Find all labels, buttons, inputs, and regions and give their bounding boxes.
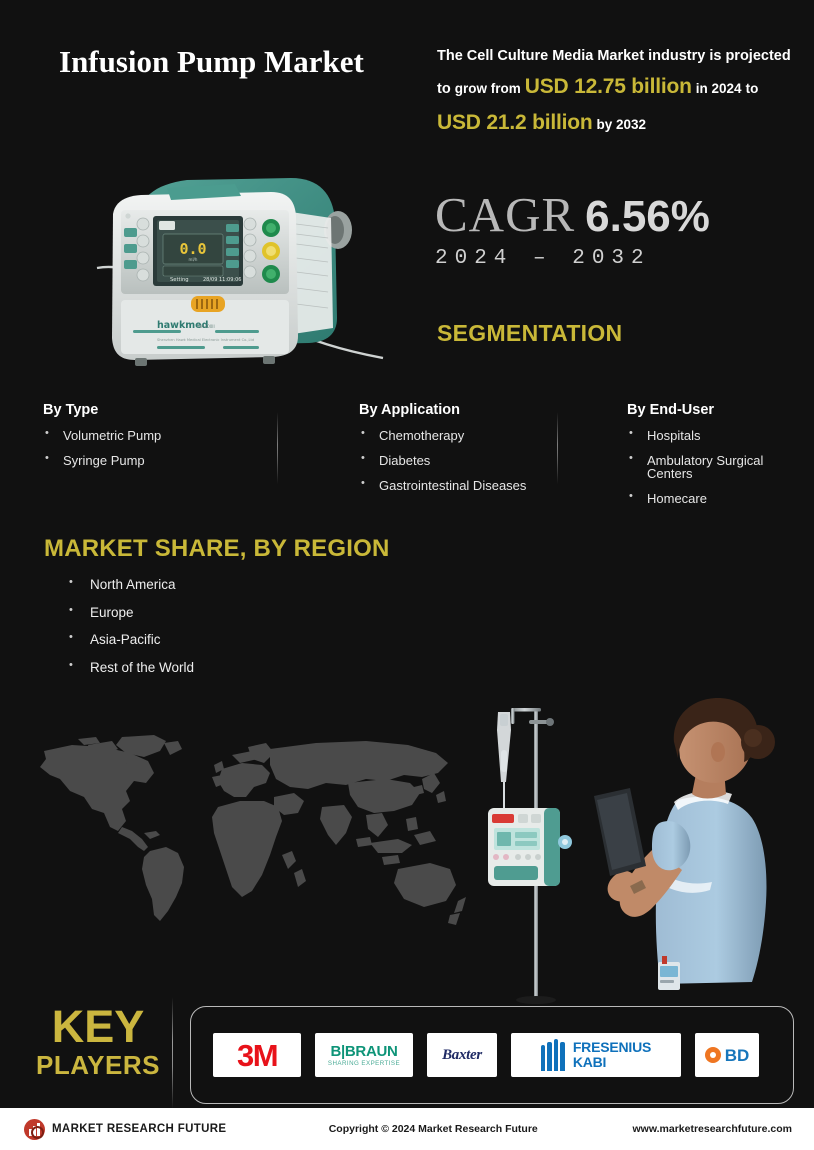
segment-column-by-application: By Application Chemotherapy Diabetes Gas… <box>300 402 582 517</box>
segment-column-title: By Type <box>43 402 300 418</box>
list-item: Homecare <box>627 492 780 505</box>
svg-text:ml/h: ml/h <box>189 257 198 262</box>
bd-sunburst-icon <box>705 1047 721 1063</box>
footer-copyright: Copyright © 2024 Market Research Future <box>234 1123 632 1135</box>
list-item: Chemotherapy <box>359 429 582 442</box>
list-item: Hospitals <box>627 429 780 442</box>
column-divider <box>277 412 278 484</box>
key-players-label: KEY PLAYERS <box>28 1005 168 1083</box>
cagr-block: CAGR6.56% 2024 – 2032 <box>435 190 710 270</box>
segment-column-by-type: By Type Volumetric Pump Syringe Pump <box>40 402 300 517</box>
logo-bd-text: BD <box>725 1047 750 1064</box>
blurb-year-end: by 2032 <box>597 117 647 132</box>
logo-b-braun-text: B|BRAUN <box>330 1044 397 1059</box>
segment-column-title: By Application <box>359 402 582 418</box>
logo-baxter[interactable]: Baxter <box>427 1033 497 1077</box>
key-players-logo-box: 3M B|BRAUN SHARING EXPERTISE Baxter FRES… <box>190 1006 794 1104</box>
logo-3m[interactable]: 3M <box>213 1033 301 1077</box>
cagr-line: CAGR6.56% <box>435 190 710 239</box>
logo-fresenius-line2: KABI <box>573 1054 606 1070</box>
blurb-to: to <box>746 81 759 96</box>
list-item: North America <box>67 578 194 592</box>
list-item: Gastrointestinal Diseases <box>359 479 582 492</box>
fresenius-wave-icon <box>541 1039 565 1071</box>
column-divider <box>557 412 558 484</box>
blurb-grow-from: grow from <box>455 81 521 96</box>
segment-column-title: By End-User <box>627 402 780 418</box>
footer-website-url[interactable]: www.marketresearchfuture.com <box>632 1123 792 1135</box>
logo-fresenius-kabi-text: FRESENIUS KABI <box>573 1040 651 1069</box>
cagr-year-range: 2024 – 2032 <box>435 247 710 270</box>
segmentation-heading: SEGMENTATION <box>437 320 622 347</box>
cagr-value: 6.56% <box>585 192 710 241</box>
svg-text:Setting: Setting <box>170 277 189 283</box>
segment-list: Chemotherapy Diabetes Gastrointestinal D… <box>359 429 582 492</box>
segment-list: Hospitals Ambulatory Surgical Centers Ho… <box>627 429 780 505</box>
infusion-pump-image: 0.0 ml/h Setting 28/09 11:09:06 <box>95 168 385 380</box>
list-item: Syringe Pump <box>43 454 300 467</box>
blurb-value-start: USD 12.75 billion <box>525 75 692 98</box>
footer-bar: MARKET RESEARCH FUTURE Copyright © 2024 … <box>0 1108 814 1150</box>
market-projection-blurb: The Cell Culture Media Market industry i… <box>437 44 802 141</box>
logo-fresenius-line1: FRESENIUS <box>573 1039 651 1055</box>
list-item: Diabetes <box>359 454 582 467</box>
blurb-year-start: in 2024 <box>696 81 742 96</box>
segment-list: Volumetric Pump Syringe Pump <box>43 429 300 467</box>
key-players-divider <box>172 997 173 1109</box>
market-research-future-logo-icon <box>24 1119 45 1140</box>
list-item: Rest of the World <box>67 661 194 675</box>
logo-baxter-text: Baxter <box>442 1048 482 1063</box>
svg-text:Shenzhen Hawk Medical Electron: Shenzhen Hawk Medical Electronic Instrum… <box>157 338 254 342</box>
logo-bd[interactable]: BD <box>695 1033 759 1077</box>
svg-text:HK-100II: HK-100II <box>198 324 215 329</box>
nurse-with-iv-pump-image <box>470 690 790 1005</box>
region-list: North America Europe Asia-Pacific Rest o… <box>67 578 194 688</box>
page-title: Infusion Pump Market <box>59 42 399 82</box>
svg-text:0.0: 0.0 <box>179 240 206 258</box>
list-item: Asia-Pacific <box>67 633 194 647</box>
list-item: Volumetric Pump <box>43 429 300 442</box>
svg-text:28/09 11:09:06: 28/09 11:09:06 <box>203 277 241 283</box>
key-players-label-bottom: PLAYERS <box>28 1049 168 1083</box>
segmentation-columns: By Type Volumetric Pump Syringe Pump By … <box>40 402 780 517</box>
footer-brand-text: MARKET RESEARCH FUTURE <box>52 1123 226 1135</box>
key-players-label-top: KEY <box>28 1005 168 1049</box>
logo-fresenius-kabi[interactable]: FRESENIUS KABI <box>511 1033 681 1077</box>
list-item: Europe <box>67 606 194 620</box>
list-item: Ambulatory Surgical Centers <box>627 454 780 480</box>
world-map-image <box>26 735 466 940</box>
logo-b-braun-tagline: SHARING EXPERTISE <box>328 1060 400 1067</box>
segment-column-by-end-user: By End-User Hospitals Ambulatory Surgica… <box>582 402 780 517</box>
blurb-value-end: USD 21.2 billion <box>437 111 593 134</box>
logo-b-braun[interactable]: B|BRAUN SHARING EXPERTISE <box>315 1033 413 1077</box>
logo-3m-text: 3M <box>237 1040 277 1071</box>
market-share-heading: MARKET SHARE, BY REGION <box>44 535 390 563</box>
cagr-label: CAGR <box>435 187 575 242</box>
